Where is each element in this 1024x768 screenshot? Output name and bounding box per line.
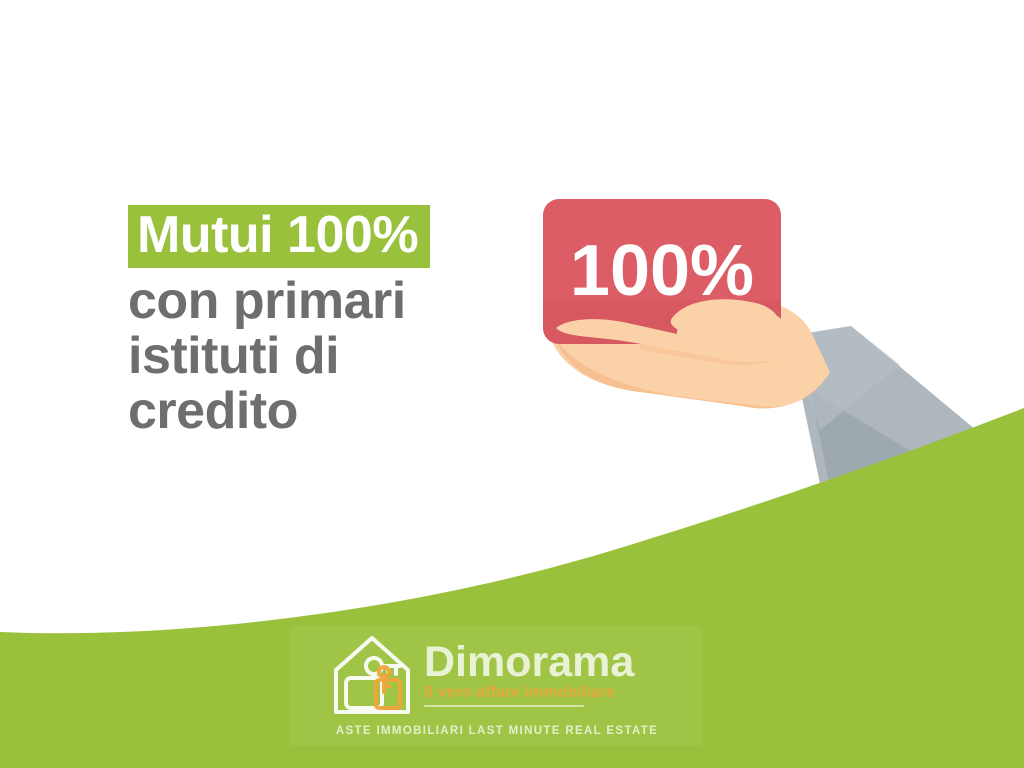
- brand-strapline: ASTE IMMOBILIARI LAST MINUTE REAL ESTATE: [336, 725, 658, 737]
- headline-block: Mutui 100% con primari istituti di credi…: [128, 205, 508, 439]
- house-with-key-icon: [326, 630, 418, 718]
- headline-line-2: con primari: [128, 274, 508, 329]
- brand-divider: [424, 705, 584, 707]
- logo-row: Dimorama Il vero affare immobiliare: [292, 628, 702, 720]
- headline-line-1: Mutui 100%: [128, 205, 430, 268]
- promo-banner: Mutui 100% con primari istituti di credi…: [0, 0, 1024, 768]
- brand-name: Dimorama: [424, 641, 634, 683]
- percent-card-label: 100%: [543, 199, 781, 344]
- percent-value: 100%: [570, 231, 754, 311]
- brand-tagline: Il vero affare immobiliare: [424, 684, 615, 701]
- headline-line-3: istituti di: [128, 329, 508, 384]
- brand-logo-lockup[interactable]: Dimorama Il vero affare immobiliare ASTE…: [292, 628, 702, 746]
- headline-line-4: credito: [128, 384, 508, 439]
- logo-wordmark-group: Dimorama Il vero affare immobiliare: [424, 641, 634, 707]
